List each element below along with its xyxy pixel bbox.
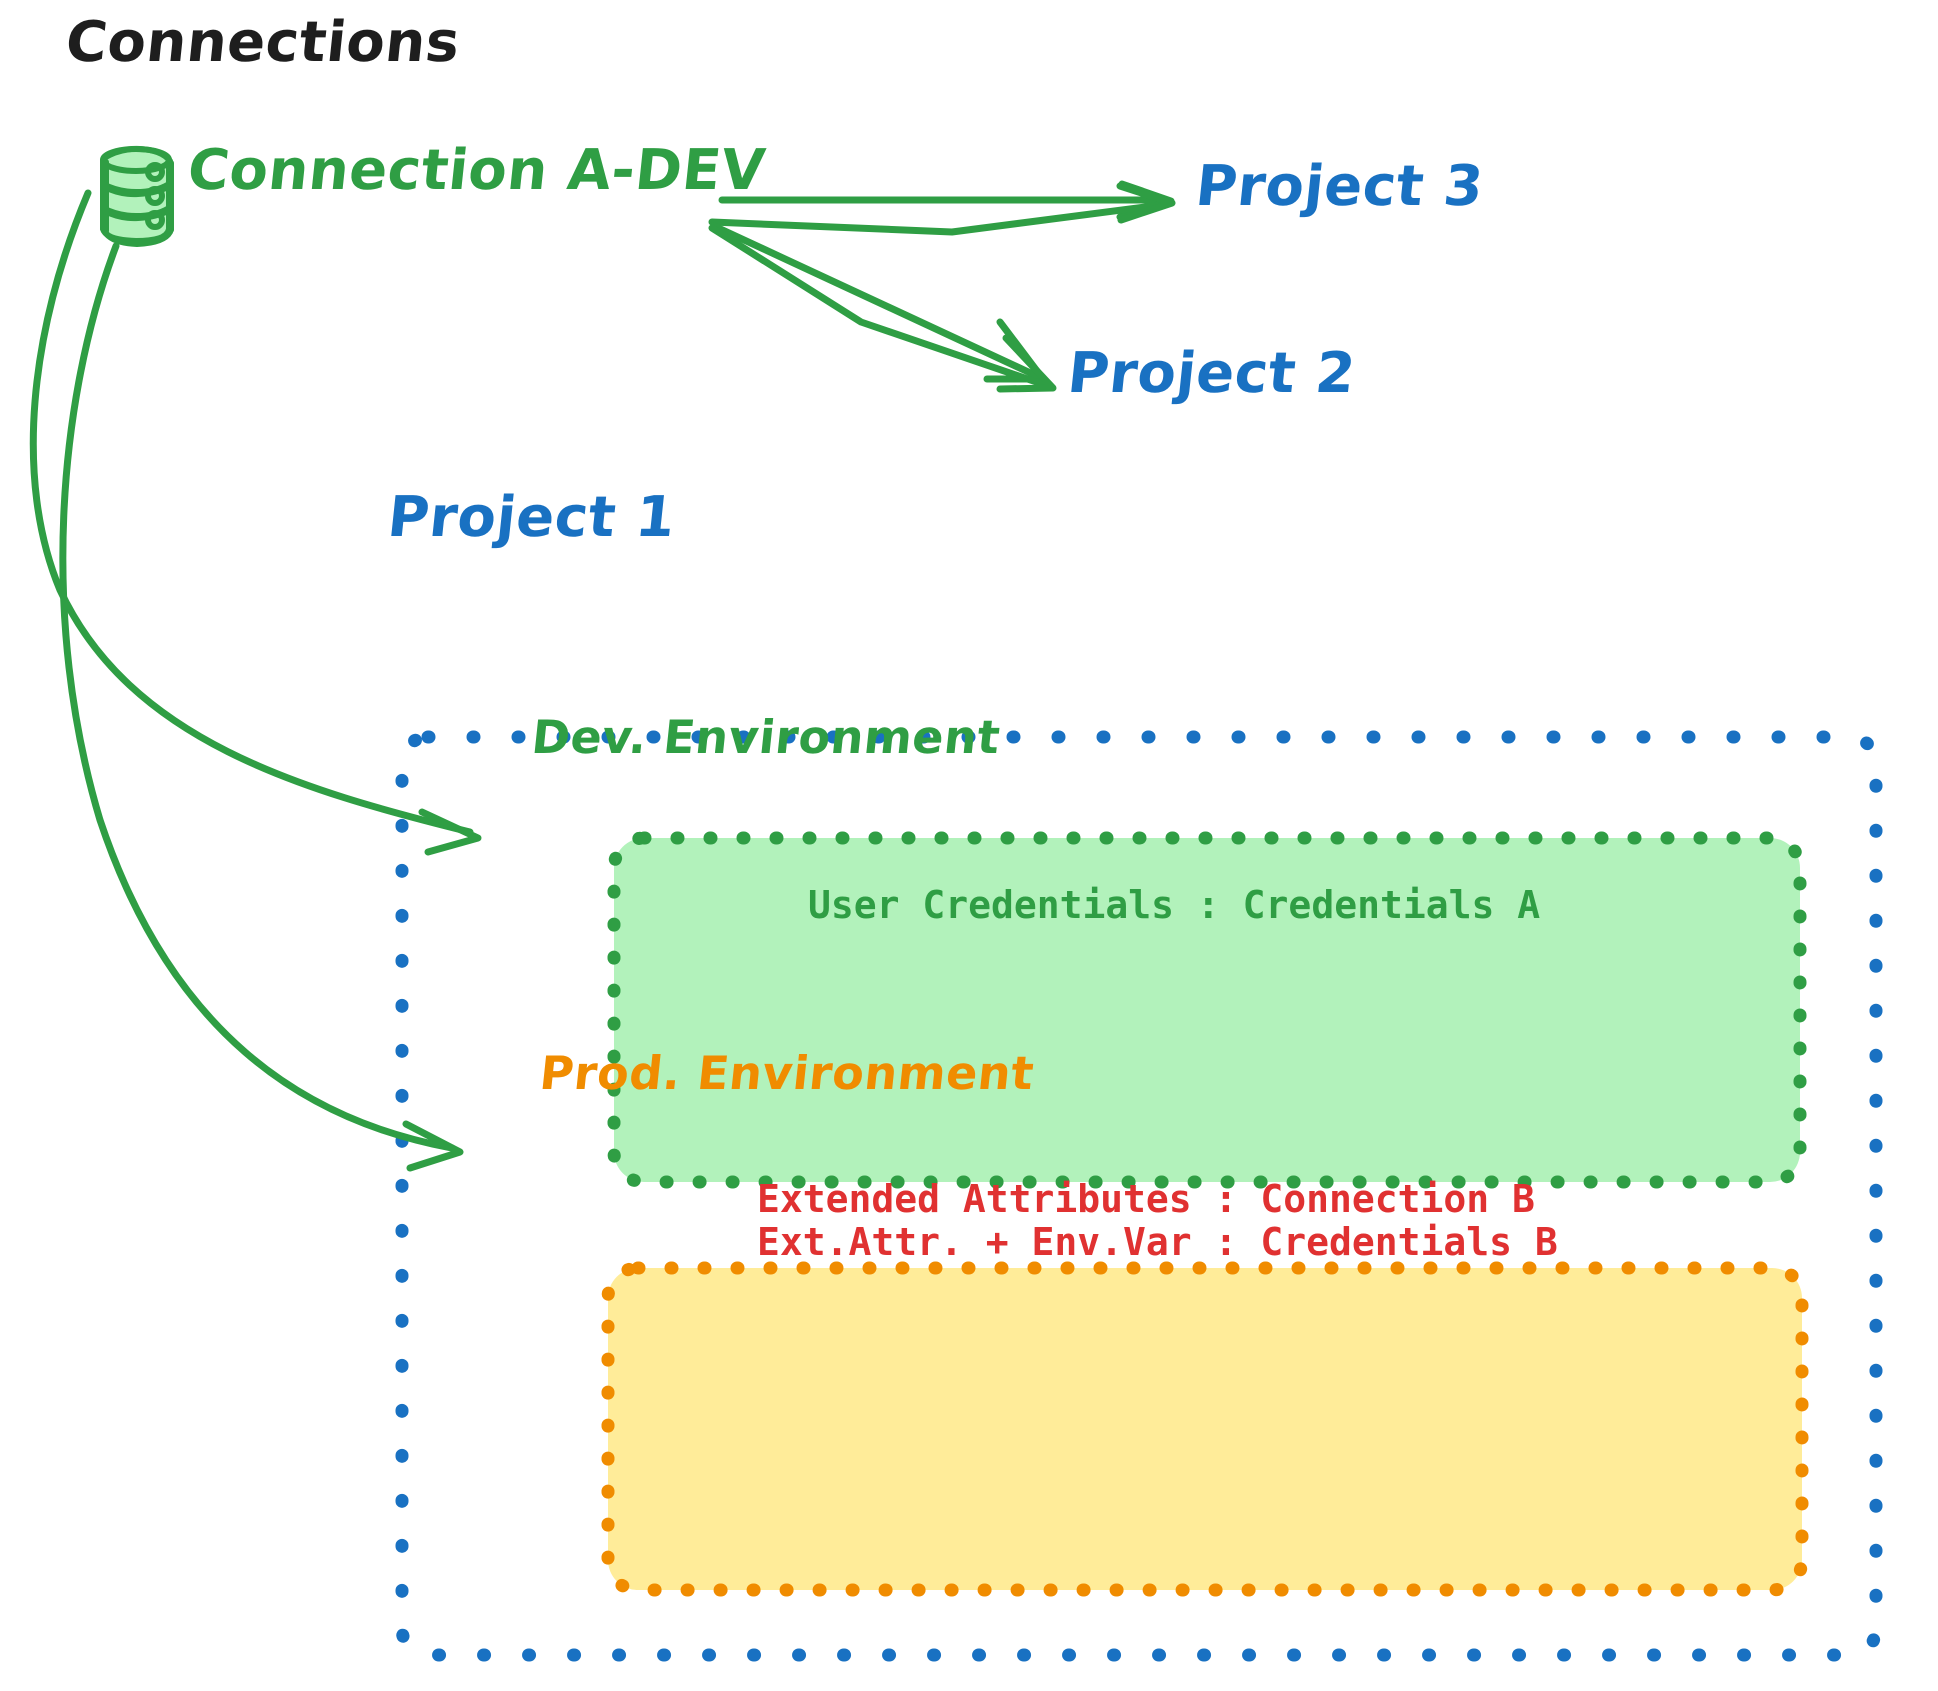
prod-environment-attributes-text: Extended Attributes : Connection B Ext.A… — [757, 1178, 1558, 1263]
project-1-label[interactable]: Project 1 — [385, 487, 679, 550]
project-3-label[interactable]: Project 3 — [1193, 156, 1487, 219]
prod-environment-box[interactable] — [608, 1268, 1802, 1590]
diagram-canvas: Connections Connection A-DEV Project 3 P… — [0, 0, 1938, 1691]
arrow-connection-to-prod-env — [63, 246, 460, 1168]
diagram-sketch-layer — [0, 0, 1938, 1691]
prod-environment-title: Prod. Environment — [537, 1048, 1036, 1100]
arrow-connection-to-project3-b — [712, 186, 1172, 232]
dev-environment-credentials-text: User Credentials : Credentials A — [808, 884, 1540, 927]
page-title: Connections — [63, 12, 463, 75]
database-icon[interactable] — [103, 149, 171, 244]
project-2-label[interactable]: Project 2 — [1065, 343, 1359, 406]
prod-environment-border — [608, 1268, 1802, 1590]
arrow-connection-to-project2-a — [714, 226, 1043, 379]
connection-node-label[interactable]: Connection A-DEV — [185, 140, 769, 203]
dev-environment-title: Dev. Environment — [529, 712, 1002, 764]
